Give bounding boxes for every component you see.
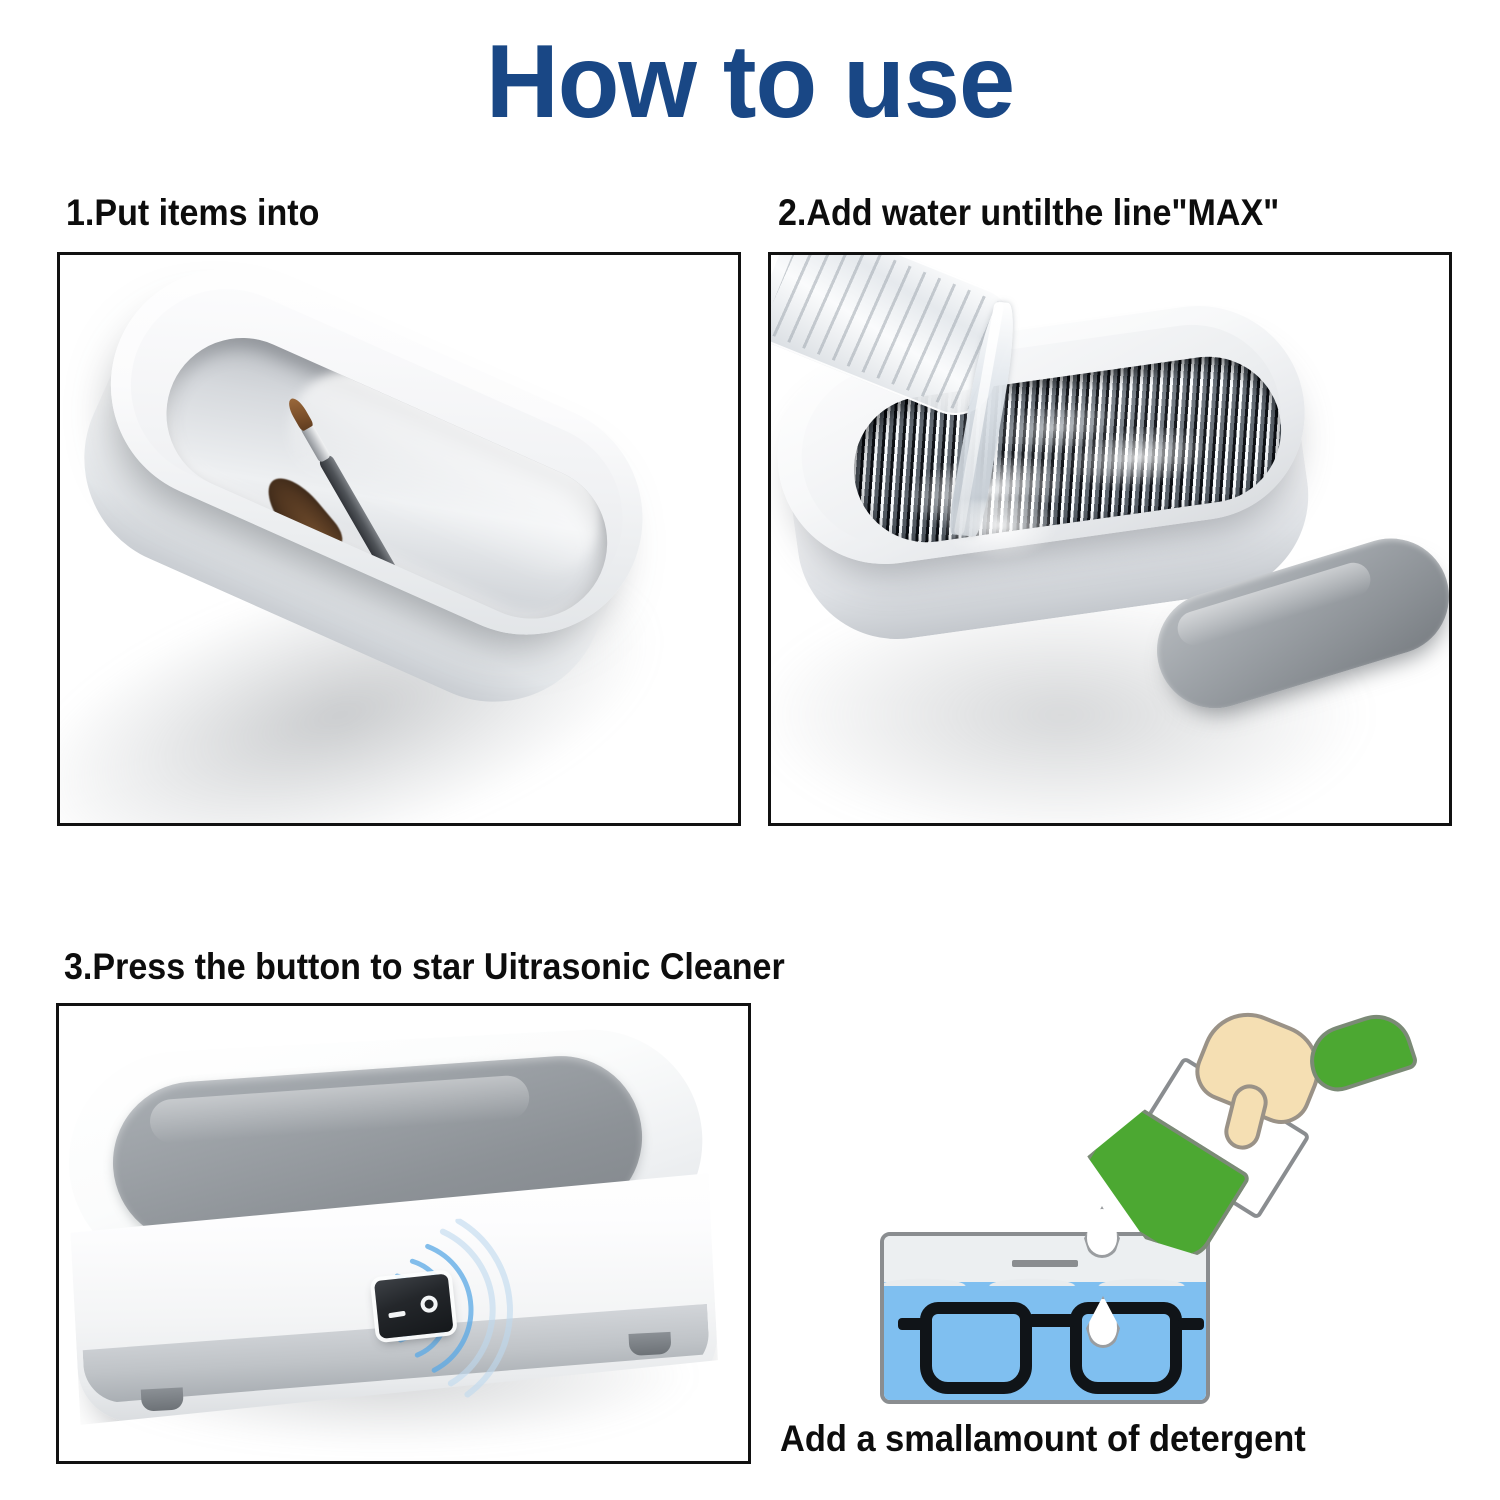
detergent-bottle-icon [1076,1070,1306,1260]
scene-press-button [59,1006,748,1461]
ultrasonic-cleaner-closed [59,1023,737,1447]
panel-step-2 [768,252,1452,826]
detergent-illustration [862,1010,1482,1410]
switch-off-circle-icon [420,1295,439,1314]
scene-pouring-water [771,255,1449,823]
eyeglasses-icon [920,1302,1182,1398]
glasses-temple-right [1178,1318,1204,1330]
bottle-cap-green [1301,1005,1420,1098]
glasses-bridge [1028,1314,1076,1327]
detergent-caption: Add a smallamount of detergent [780,1418,1306,1460]
step-1-label: 1.Put items into [66,192,319,234]
glasses-lens-left [920,1302,1032,1394]
step-2-label: 2.Add water untilthe line"MAX" [778,192,1279,234]
infographic-page: How to use 1.Put items into [0,0,1500,1500]
panel-step-1 [57,252,741,826]
water-splash [939,501,1059,561]
device-foot [141,1387,184,1411]
hand-icon [1180,1018,1370,1168]
device-foot [628,1332,671,1356]
glasses-temple-left [898,1318,924,1330]
step-3-label: 3.Press the button to star Uitrasonic Cl… [64,946,785,988]
page-title: How to use [23,26,1478,138]
max-line-marker [1012,1260,1078,1267]
glasses-lens-right [1070,1302,1182,1394]
water-surface [884,1272,1206,1286]
switch-on-dash-icon [388,1311,406,1319]
panel-step-3 [56,1003,751,1464]
scene-brushes-in-tub [60,255,738,823]
power-switch-button[interactable] [374,1274,454,1339]
